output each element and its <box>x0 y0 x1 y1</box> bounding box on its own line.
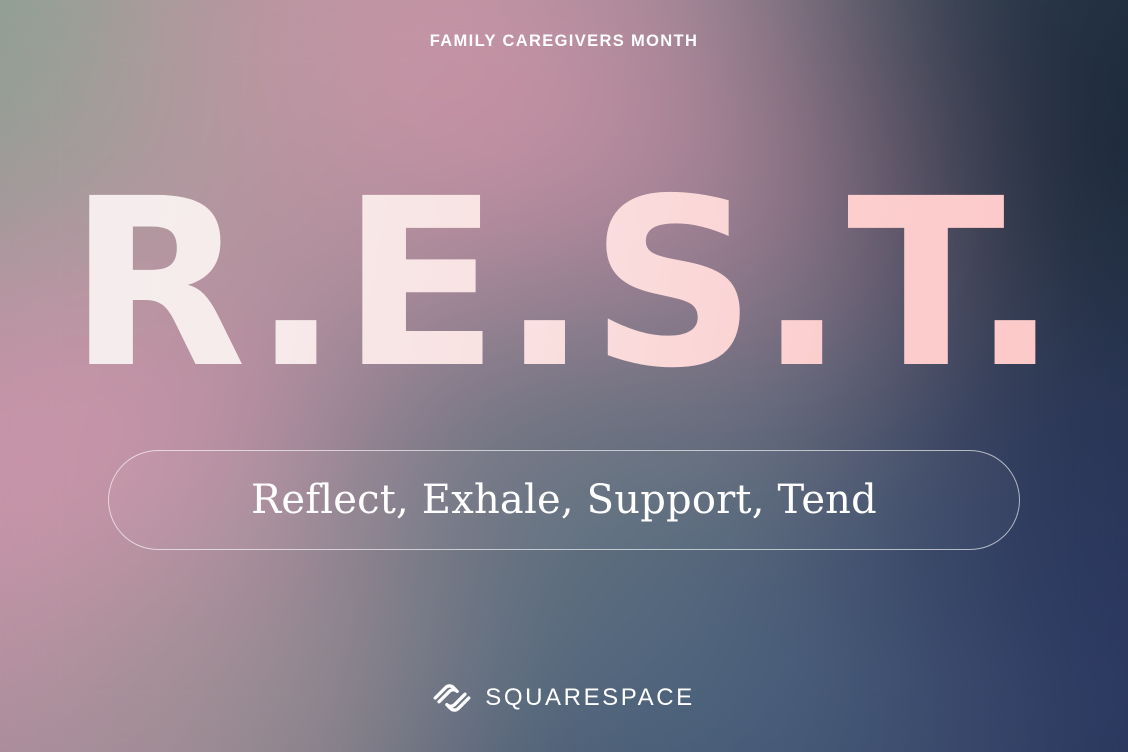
eyebrow-label: FAMILY CAREGIVERS MONTH <box>430 33 699 50</box>
poster-content: FAMILY CAREGIVERS MONTH R.E.S.T. Reflect… <box>0 0 1128 752</box>
page-title: R.E.S.T. <box>0 178 1128 391</box>
brand-lockup: SQUARESPACE <box>0 683 1128 713</box>
poster-canvas: FAMILY CAREGIVERS MONTH R.E.S.T. Reflect… <box>0 0 1128 752</box>
squarespace-logo-mark <box>433 683 471 713</box>
brand-wordmark: SQUARESPACE <box>485 686 695 710</box>
subtitle-text: Reflect, Exhale, Support, Tend <box>251 480 877 520</box>
subtitle-pill: Reflect, Exhale, Support, Tend <box>108 450 1020 550</box>
